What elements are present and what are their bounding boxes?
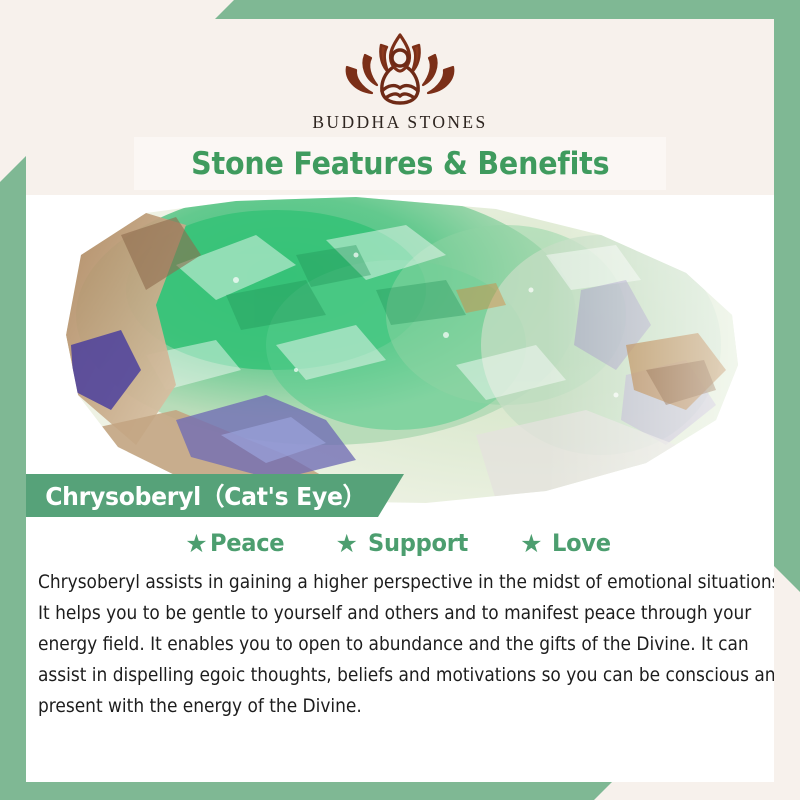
keyword-label: Love bbox=[552, 529, 611, 557]
frame-top-bar bbox=[215, 0, 800, 19]
stone-name-banner: Chrysoberyl（Cat's Eye） bbox=[26, 474, 404, 517]
brand-logo: BUDDHA STONES bbox=[26, 25, 774, 141]
frame-right-bar bbox=[774, 0, 800, 592]
description-paragraph: Chrysoberyl assists in gaining a higher … bbox=[38, 567, 774, 722]
keyword-support: ★ Support bbox=[336, 529, 475, 557]
star-icon: ★ bbox=[336, 531, 358, 556]
stone-photo: Chrysoberyl（Cat's Eye） bbox=[26, 195, 774, 517]
keyword-row: ★ Peace ★ Support ★ Love bbox=[26, 519, 774, 567]
page-title: Stone Features & Benefits bbox=[191, 146, 609, 182]
star-icon: ★ bbox=[520, 531, 542, 556]
keyword-love: ★ Love bbox=[520, 529, 615, 557]
infographic-page: BUDDHA STONES Stone Features & Benefits bbox=[0, 0, 800, 800]
star-icon: ★ bbox=[185, 531, 207, 556]
frame-bottom-bar bbox=[0, 782, 612, 800]
keyword-label: Peace bbox=[210, 529, 284, 557]
frame-left-bar bbox=[0, 156, 26, 782]
title-banner: Stone Features & Benefits bbox=[134, 137, 666, 190]
stone-image bbox=[26, 195, 774, 517]
stone-name: Chrysoberyl（Cat's Eye） bbox=[26, 478, 366, 513]
header-band: BUDDHA STONES Stone Features & Benefits bbox=[26, 19, 774, 195]
lotus-meditation-icon bbox=[325, 25, 475, 111]
keyword-peace: ★ Peace bbox=[185, 529, 289, 557]
content-card: BUDDHA STONES Stone Features & Benefits bbox=[26, 19, 774, 782]
brand-name: BUDDHA STONES bbox=[312, 112, 487, 133]
keyword-label: Support bbox=[368, 529, 468, 557]
